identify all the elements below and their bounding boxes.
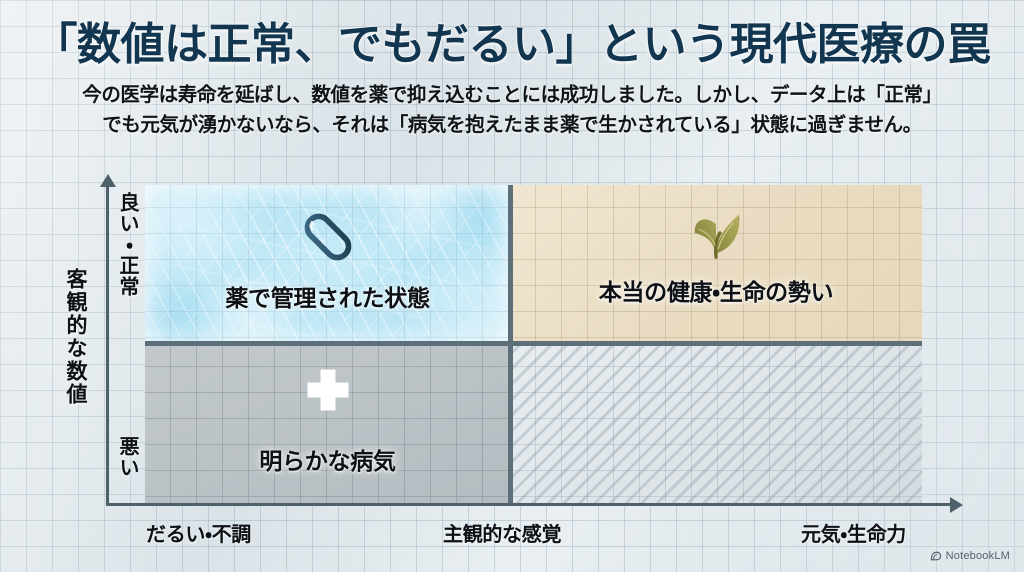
page-title: 「数値は正常、でもだるい」という現代医療の罠 <box>0 22 1024 69</box>
x-axis-low-label: だるい・不調 <box>146 518 251 547</box>
y-axis-high-label: 良い・正常 <box>113 192 142 297</box>
y-axis-title: 客観的な数値 <box>60 268 90 406</box>
x-axis-line <box>106 503 951 506</box>
quadrant-top-left[interactable]: 薬で管理された状態 <box>145 185 510 344</box>
quadrant-bottom-right[interactable] <box>510 344 922 505</box>
medical-cross-icon <box>300 366 356 422</box>
quadrant-horizontal-divider <box>145 341 922 346</box>
pill-capsule-icon <box>298 207 358 267</box>
quadrant-top-left-label: 薬で管理された状態 <box>225 279 429 313</box>
plot-area: 薬で管理された状態 <box>145 185 922 505</box>
y-axis-low-label: 悪い <box>113 436 142 478</box>
page-subtitle: 今の医学は寿命を延ばし、数値を薬で抑え込むことには成功しました。しかし、データ上… <box>60 80 965 140</box>
quadrant-vertical-divider <box>508 185 513 505</box>
sprout-leaf-icon <box>685 203 747 261</box>
header: 「数値は正常、でもだるい」という現代医療の罠 今の医学は寿命を延ばし、数値を薬で… <box>0 0 1024 140</box>
y-axis-line <box>106 186 109 504</box>
quadrant-top-right[interactable]: 本当の健康・生命の勢い <box>510 185 922 344</box>
infographic-canvas: 「数値は正常、でもだるい」という現代医療の罠 今の医学は寿命を延ばし、数値を薬で… <box>0 0 1024 572</box>
subtitle-line-1: 今の医学は寿命を延ばし、数値を薬で抑え込むことには成功しました。しかし、データ上… <box>60 80 965 110</box>
subtitle-line-2: でも元気が湧かないなら、それは「病気を抱えたまま薬で生かされている」状態に過ぎま… <box>60 110 965 140</box>
quadrant-top-right-label: 本当の健康・生命の勢い <box>599 273 834 307</box>
x-axis-title: 主観的な感覚 <box>443 518 561 547</box>
quadrant-bottom-left[interactable]: 明らかな病気 <box>145 344 510 505</box>
watermark: NotebookLM <box>930 550 1010 562</box>
quadrant-bottom-left-label: 明らかな病気 <box>259 442 395 476</box>
notebooklm-logo-icon <box>930 550 942 562</box>
watermark-label: NotebookLM <box>946 550 1010 562</box>
x-axis-high-label: 元気・生命力 <box>801 518 906 547</box>
